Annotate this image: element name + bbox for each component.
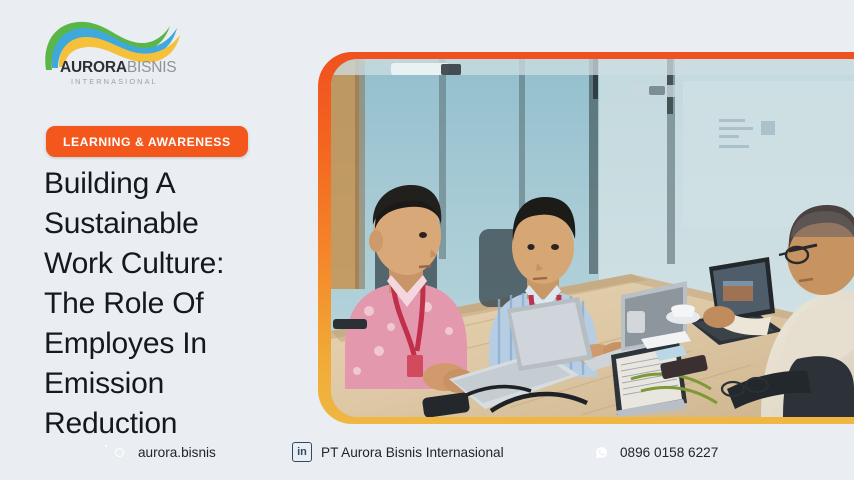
linkedin-icon: in <box>292 442 312 462</box>
poster-canvas: AURORABISNIS INTERNASIONAL LEARNING & AW… <box>0 0 854 480</box>
logo-word-bisnis: BISNIS <box>127 59 177 76</box>
logo-word-aurora: AURORA <box>60 59 127 76</box>
brand-logo: AURORABISNIS INTERNASIONAL <box>38 16 188 98</box>
logo-wordmark: AURORABISNIS INTERNASIONAL <box>60 60 188 85</box>
headline-line-6: Emission <box>44 364 312 404</box>
headline-line-1: Building A <box>44 164 312 204</box>
category-badge-label: LEARNING & AWARENESS <box>63 135 231 149</box>
headline-line-4: The Role Of <box>44 284 312 324</box>
logo-wordmark-line: AURORABISNIS <box>60 60 188 76</box>
hero-photo-illustration <box>331 59 854 417</box>
footer-item-whatsapp[interactable]: 0896 0158 6227 <box>592 443 718 462</box>
footer-item-instagram[interactable]: aurora.bisnis <box>110 443 216 462</box>
logo-word-internasional: INTERNASIONAL <box>71 78 188 85</box>
hero-photo-container <box>318 52 854 424</box>
whatsapp-icon <box>592 443 611 462</box>
headline-line-3: Work Culture: <box>44 244 312 284</box>
page-title: Building A Sustainable Work Culture: The… <box>44 164 312 444</box>
headline-line-2: Sustainable <box>44 204 312 244</box>
hero-photo <box>331 59 854 417</box>
footer-item-linkedin[interactable]: in PT Aurora Bisnis Internasional <box>292 442 504 462</box>
whatsapp-number: 0896 0158 6227 <box>620 445 718 460</box>
instagram-handle: aurora.bisnis <box>138 445 216 460</box>
footer-contact-bar: aurora.bisnis in PT Aurora Bisnis Intern… <box>0 424 854 480</box>
headline-line-5: Employes In <box>44 324 312 364</box>
category-badge: LEARNING & AWARENESS <box>46 126 248 157</box>
linkedin-handle: PT Aurora Bisnis Internasional <box>321 445 504 460</box>
instagram-icon <box>110 443 129 462</box>
left-content-column: AURORABISNIS INTERNASIONAL LEARNING & AW… <box>0 0 318 480</box>
